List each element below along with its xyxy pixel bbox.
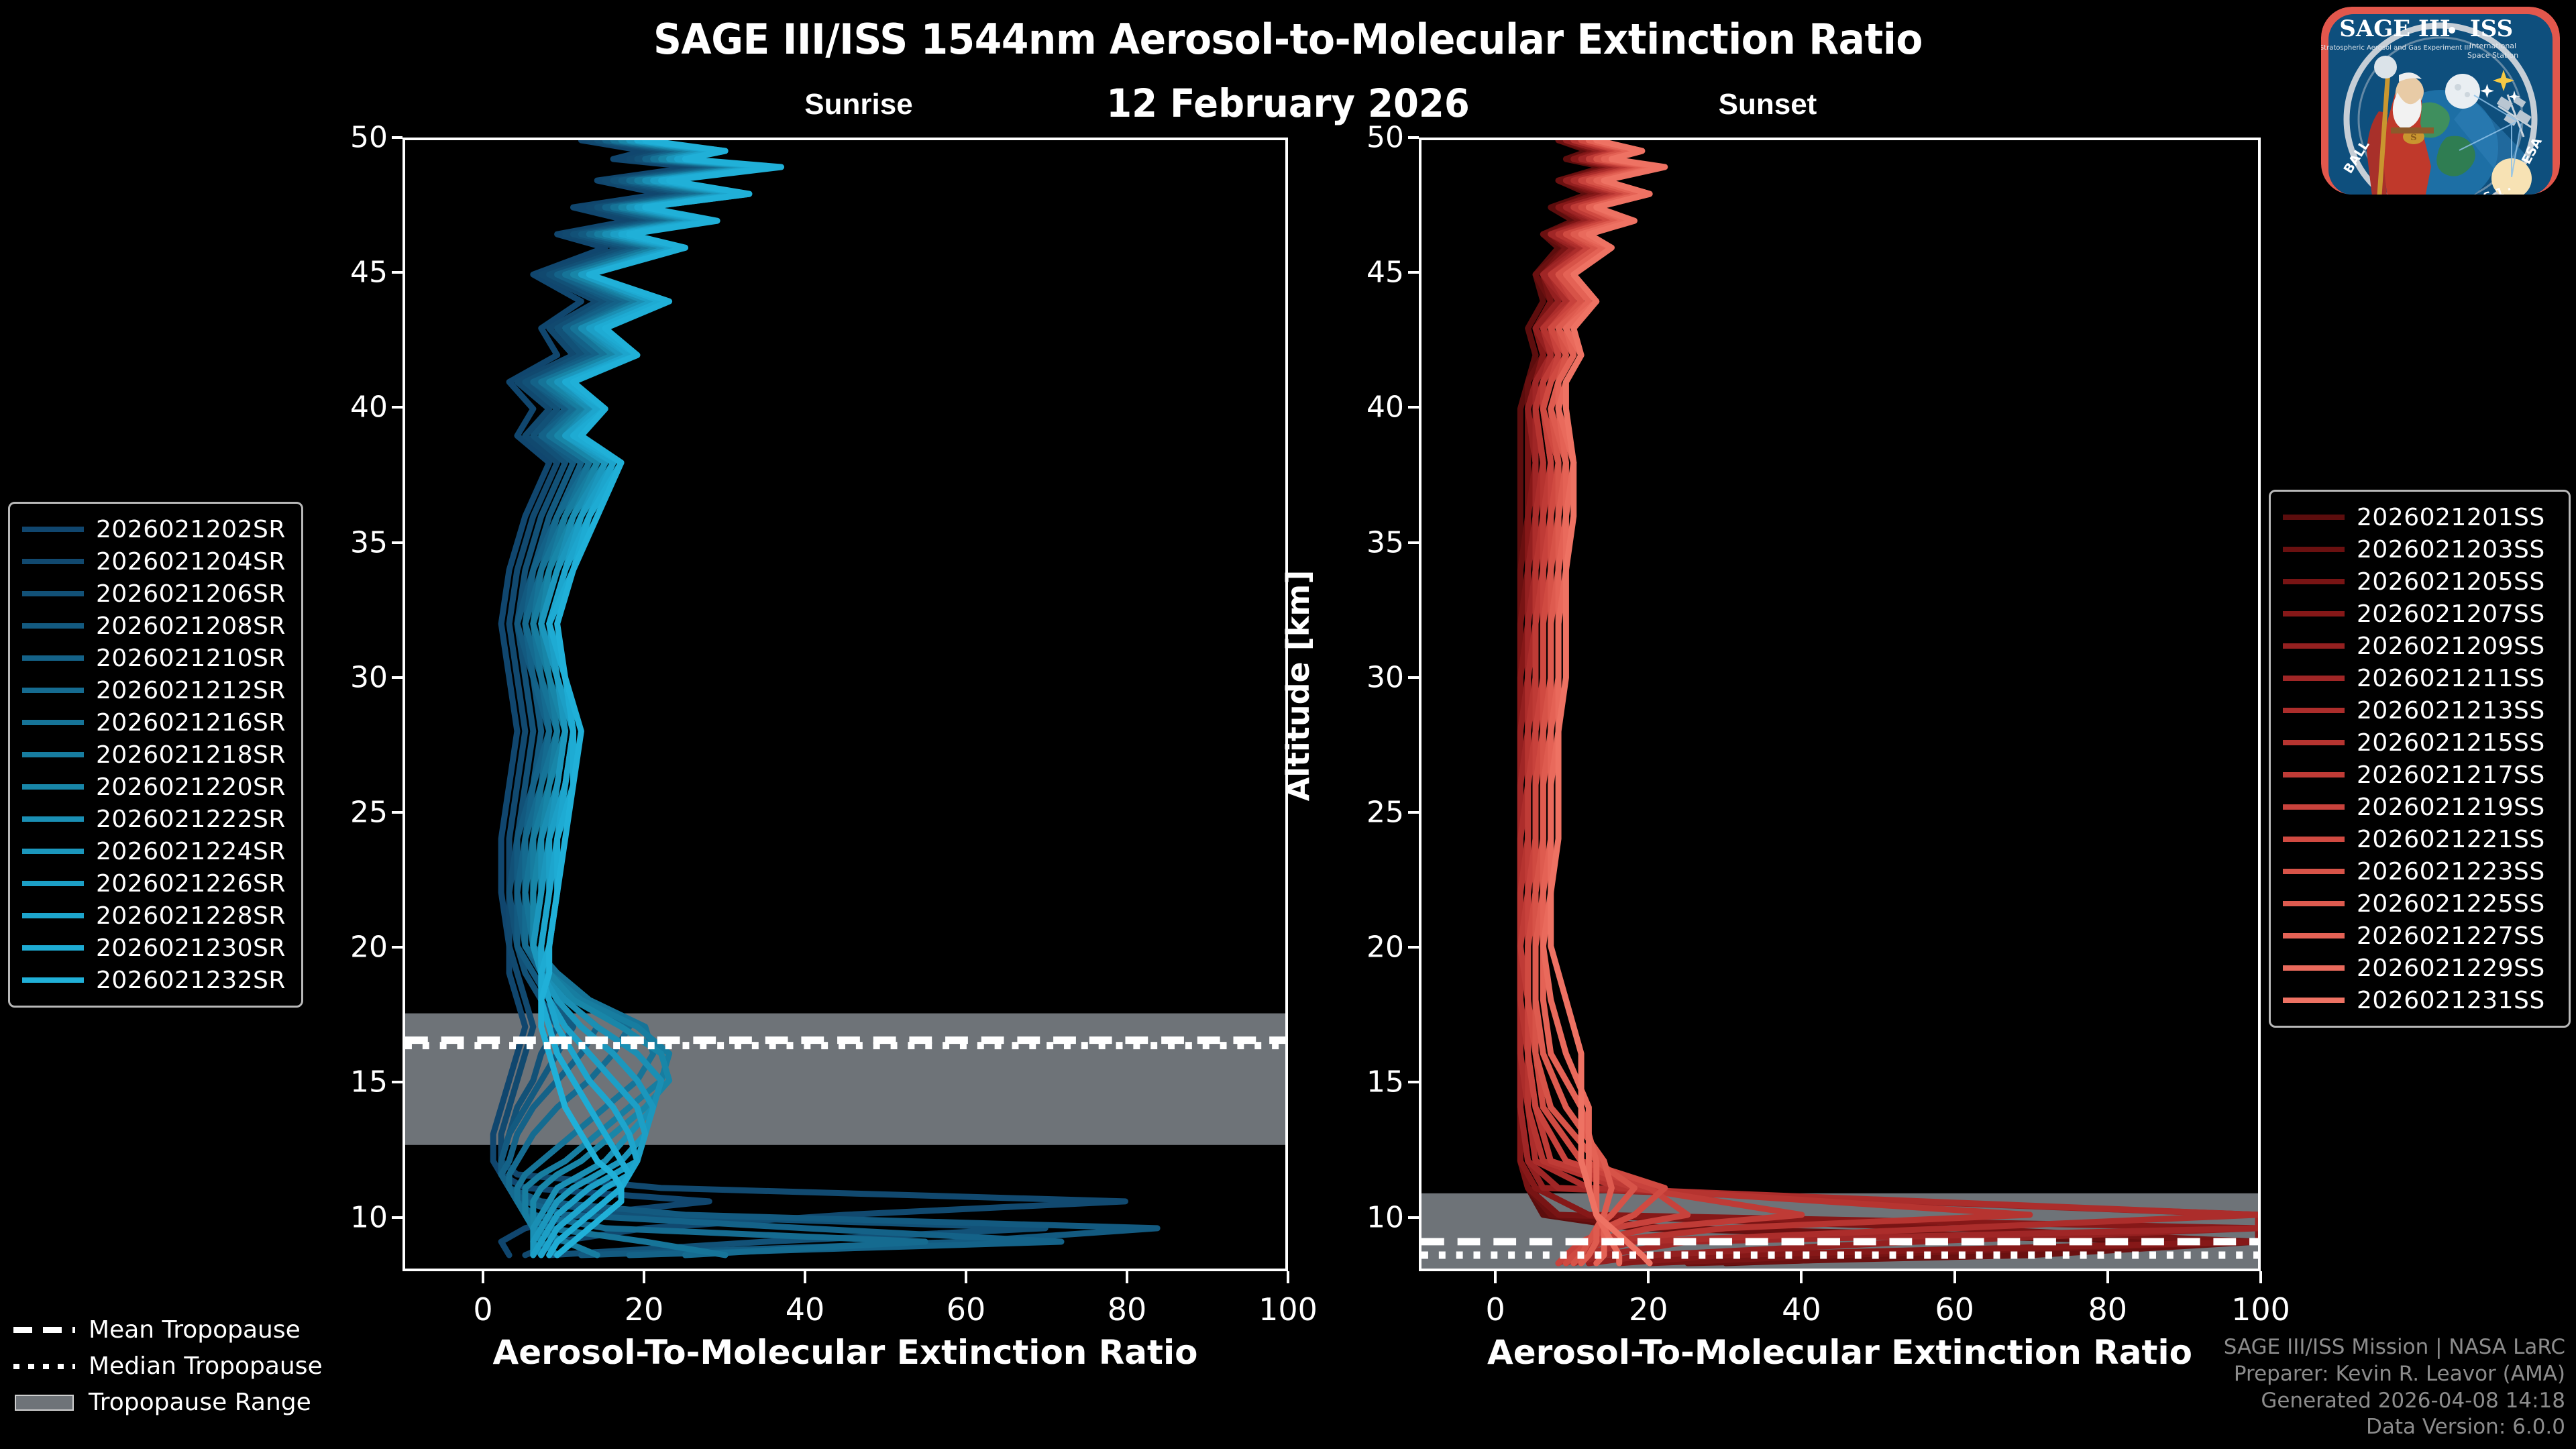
legend-item[interactable]: 2026021216SR [22, 706, 285, 739]
x-tick-mark [2259, 1271, 2262, 1283]
legend-color-swatch [22, 559, 84, 564]
y-tick-mark [392, 1216, 402, 1219]
data-series-line [1520, 140, 2258, 1263]
legend-color-swatch [2283, 643, 2345, 649]
y-axis-label-sunset: Altitude [km] [1280, 551, 1316, 820]
y-tick-label: 35 [350, 525, 388, 559]
x-tick-mark [1953, 1271, 1956, 1283]
x-tick-label: 0 [1485, 1291, 1505, 1328]
y-tick-label: 30 [350, 660, 388, 694]
legend-color-swatch [2283, 676, 2345, 681]
x-tick-label: 0 [473, 1291, 492, 1328]
data-series-line [1520, 140, 2258, 1263]
y-tick-mark [392, 1081, 402, 1083]
y-tick-mark [1408, 406, 1419, 409]
legend-color-swatch [22, 623, 84, 629]
legend-item-label: 2026021210SR [96, 645, 286, 672]
x-tick-label: 20 [1629, 1291, 1668, 1328]
x-tick-label: 60 [1935, 1291, 1974, 1328]
credits-block: SAGE III/ISS Mission | NASA LaRCPreparer… [2224, 1334, 2565, 1441]
legend-item[interactable]: 2026021201SS [2283, 501, 2553, 533]
legend-item-label: 2026021223SS [2357, 858, 2545, 885]
legend-color-swatch [22, 784, 84, 790]
legend-item-label: 2026021222SR [96, 806, 286, 833]
legend-color-swatch [2283, 965, 2345, 971]
legend-item[interactable]: 2026021224SR [22, 835, 285, 867]
legend-color-swatch [22, 913, 84, 918]
y-tick-label: 20 [350, 930, 388, 965]
legend-item[interactable]: 2026021229SS [2283, 952, 2553, 984]
x-tick-mark [1126, 1271, 1128, 1283]
svg-text:Space Station: Space Station [2467, 51, 2518, 60]
y-tick-mark [1408, 1081, 1419, 1083]
legend-item-label: 2026021218SR [96, 741, 286, 769]
legend-item-label: 2026021203SS [2357, 536, 2545, 563]
legend-sunrise[interactable]: 2026021202SR2026021204SR2026021206SR2026… [8, 502, 303, 1008]
x-axis-label-sunset: Aerosol-To-Molecular Extinction Ratio [1487, 1333, 2192, 1372]
y-tick-label: 20 [1366, 930, 1404, 965]
date-title: 12 February 2026 [77, 80, 2499, 126]
legend-item[interactable]: 2026021231SS [2283, 984, 2553, 1016]
legend-item-label: 2026021220SR [96, 773, 286, 801]
legend-item[interactable]: 2026021225SS [2283, 888, 2553, 920]
legend-item[interactable]: 2026021232SR [22, 964, 285, 996]
legend-item[interactable]: 2026021206SR [22, 578, 285, 610]
y-tick-mark [1408, 541, 1419, 544]
data-series-line [1520, 140, 2182, 1263]
y-tick-mark [1408, 811, 1419, 814]
data-series-line [1520, 140, 2258, 1263]
x-tick-label: 80 [1108, 1291, 1147, 1328]
legend-item-label: 2026021213SS [2357, 697, 2545, 724]
legend-item-label: 2026021226SR [96, 870, 286, 898]
legend-label-mean-tropopause: Mean Tropopause [89, 1316, 301, 1344]
legend-item[interactable]: 2026021210SR [22, 642, 285, 674]
legend-item-label: 2026021207SS [2357, 600, 2545, 628]
legend-item[interactable]: 2026021204SR [22, 545, 285, 578]
y-tick-label: 45 [1366, 256, 1404, 290]
legend-color-swatch [22, 881, 84, 886]
y-tick-label: 50 [350, 121, 388, 155]
x-tick-mark [1287, 1271, 1289, 1283]
y-tick-label: 50 [1366, 121, 1404, 155]
legend-label-tropopause-range: Tropopause Range [89, 1389, 311, 1416]
legend-color-swatch [2283, 515, 2345, 520]
data-series-line [1520, 140, 2030, 1263]
legend-color-swatch [22, 720, 84, 725]
legend-item[interactable]: 2026021223SS [2283, 855, 2553, 888]
y-tick-mark [392, 811, 402, 814]
data-series-line [1520, 140, 2258, 1263]
legend-color-swatch [2283, 998, 2345, 1003]
credit-line: Data Version: 6.0.0 [2224, 1414, 2565, 1441]
plot-area-sunset [1419, 138, 2261, 1271]
legend-item-label: 2026021225SS [2357, 890, 2545, 918]
legend-item[interactable]: 2026021222SR [22, 803, 285, 835]
x-tick-mark [1494, 1271, 1497, 1283]
legend-item-label: 2026021230SR [96, 934, 286, 962]
filled-box-icon [13, 1393, 75, 1411]
plot-area-sunrise [402, 138, 1288, 1271]
legend-item[interactable]: 2026021208SR [22, 610, 285, 642]
y-tick-label: 40 [350, 390, 388, 425]
legend-color-swatch [22, 849, 84, 854]
legend-color-swatch [2283, 869, 2345, 874]
legend-item-label: 2026021206SR [96, 580, 286, 608]
legend-item-label: 2026021204SR [96, 548, 286, 576]
legend-item-label: 2026021219SS [2357, 794, 2545, 821]
legend-color-swatch [22, 591, 84, 596]
legend-color-swatch [2283, 611, 2345, 616]
legend-item-label: 2026021215SS [2357, 729, 2545, 757]
legend-item[interactable]: 2026021203SS [2283, 533, 2553, 566]
legend-color-swatch [2283, 740, 2345, 745]
legend-color-swatch [22, 527, 84, 532]
x-tick-label: 20 [625, 1291, 664, 1328]
legend-item-label: 2026021216SR [96, 709, 286, 737]
x-tick-mark [643, 1271, 645, 1283]
y-tick-mark [392, 406, 402, 409]
legend-item-label: 2026021232SR [96, 967, 286, 994]
legend-item[interactable]: 2026021221SS [2283, 823, 2553, 855]
svg-text:International: International [2469, 42, 2516, 50]
legend-item-label: 2026021211SS [2357, 665, 2545, 692]
y-tick-mark [392, 136, 402, 139]
x-tick-mark [1800, 1271, 1803, 1283]
legend-color-swatch [2283, 804, 2345, 810]
dashed-line-icon [13, 1321, 75, 1338]
legend-item-label: 2026021212SR [96, 677, 286, 704]
legend-item[interactable]: 2026021228SR [22, 900, 285, 932]
y-tick-mark [1408, 676, 1419, 679]
plot-canvas-sunrise [405, 140, 1285, 1269]
credit-line: Generated 2026-04-08 14:18 [2224, 1388, 2565, 1415]
data-series-line [1520, 140, 2258, 1263]
panel-caption-sunrise: Sunrise [671, 88, 1046, 121]
legend-color-swatch [22, 945, 84, 951]
legend-item-label: 2026021201SS [2357, 504, 2545, 531]
legend-color-swatch [2283, 708, 2345, 713]
legend-color-swatch [22, 816, 84, 822]
legend-color-swatch [22, 688, 84, 693]
legend-color-swatch [2283, 837, 2345, 842]
legend-label-median-tropopause: Median Tropopause [89, 1352, 323, 1380]
credit-line: Preparer: Kevin R. Leavor (AMA) [2224, 1361, 2565, 1388]
y-tick-mark [1408, 136, 1419, 139]
y-tick-mark [392, 541, 402, 544]
x-tick-mark [804, 1271, 806, 1283]
data-series-line [1520, 140, 2258, 1263]
credit-line: SAGE III/ISS Mission | NASA LaRC [2224, 1334, 2565, 1361]
svg-text:ISS: ISS [2470, 15, 2513, 42]
y-tick-mark [1408, 946, 1419, 949]
legend-row-median-tropopause: Median Tropopause [13, 1348, 362, 1384]
legend-color-swatch [2283, 901, 2345, 906]
y-tick-label: 10 [1366, 1200, 1404, 1234]
legend-item[interactable]: 2026021218SR [22, 739, 285, 771]
x-tick-label: 100 [2231, 1291, 2290, 1328]
legend-row-mean-tropopause: Mean Tropopause [13, 1311, 362, 1348]
y-tick-label: 15 [1366, 1065, 1404, 1099]
legend-item[interactable]: 2026021205SS [2283, 566, 2553, 598]
svg-text:SAGE III: SAGE III [2339, 15, 2450, 42]
y-tick-mark [392, 946, 402, 949]
legend-color-swatch [2283, 933, 2345, 938]
plot-panel-sunrise: Altitude [km] 101520253035404550 0204060… [402, 138, 1288, 1271]
x-tick-mark [1647, 1271, 1650, 1283]
legend-item-label: 2026021209SS [2357, 633, 2545, 660]
legend-item-label: 2026021227SS [2357, 922, 2545, 950]
legend-row-tropopause-range: Tropopause Range [13, 1384, 362, 1420]
legend-color-swatch [22, 655, 84, 661]
y-tick-mark [1408, 1216, 1419, 1219]
page-title: SAGE III/ISS 1544nm Aerosol-to-Molecular… [77, 15, 2499, 64]
legend-item-label: 2026021205SS [2357, 568, 2545, 596]
legend-item-label: 2026021224SR [96, 838, 286, 865]
x-tick-label: 60 [947, 1291, 986, 1328]
x-tick-mark [2106, 1271, 2109, 1283]
plot-panel-sunset: Altitude [km] 101520253035404550 0204060… [1419, 138, 2261, 1271]
panel-caption-sunset: Sunset [1580, 88, 1955, 121]
legend-item[interactable]: 2026021211SS [2283, 662, 2553, 694]
legend-item[interactable]: 2026021220SR [22, 771, 285, 803]
y-tick-mark [392, 676, 402, 679]
legend-color-swatch [2283, 579, 2345, 584]
legend-item[interactable]: 2026021209SS [2283, 630, 2553, 662]
legend-item-label: 2026021217SS [2357, 761, 2545, 789]
legend-color-swatch [22, 977, 84, 983]
legend-item[interactable]: 2026021212SR [22, 674, 285, 706]
x-tick-label: 100 [1258, 1291, 1318, 1328]
svg-text:Stratospheric Aerosol and Gas: Stratospheric Aerosol and Gas Experiment… [2320, 44, 2470, 52]
legend-sunset[interactable]: 2026021201SS2026021203SS2026021205SS2026… [2269, 490, 2571, 1028]
x-tick-mark [965, 1271, 967, 1283]
x-tick-label: 80 [2088, 1291, 2128, 1328]
y-tick-label: 40 [1366, 390, 1404, 425]
legend-item[interactable]: 2026021230SR [22, 932, 285, 964]
legend-color-swatch [2283, 547, 2345, 552]
legend-item-label: 2026021208SR [96, 612, 286, 640]
legend-item-label: 2026021202SR [96, 516, 286, 543]
plot-canvas-sunset [1421, 140, 2258, 1269]
legend-item-label: 2026021229SS [2357, 955, 2545, 982]
legend-color-swatch [22, 752, 84, 757]
legend-item[interactable]: 2026021202SR [22, 513, 285, 545]
y-tick-label: 45 [350, 256, 388, 290]
legend-item-label: 2026021221SS [2357, 826, 2545, 853]
y-tick-mark [392, 271, 402, 274]
x-tick-mark [482, 1271, 484, 1283]
x-tick-label: 40 [1782, 1291, 1821, 1328]
y-tick-label: 15 [350, 1065, 388, 1099]
y-tick-label: 25 [1366, 795, 1404, 829]
legend-item-label: 2026021228SR [96, 902, 286, 930]
legend-item[interactable]: 2026021213SS [2283, 694, 2553, 727]
figure-root: SAGE III/ISS 1544nm Aerosol-to-Molecular… [0, 0, 2576, 1449]
y-tick-label: 35 [1366, 525, 1404, 559]
legend-item[interactable]: 2026021227SS [2283, 920, 2553, 952]
svg-text:S: S [2410, 133, 2416, 143]
legend-item-label: 2026021231SS [2357, 987, 2545, 1014]
legend-item[interactable]: 2026021215SS [2283, 727, 2553, 759]
legend-item[interactable]: 2026021217SS [2283, 759, 2553, 791]
sage-iii-iss-mission-patch-logo: S BALL ESA S-1 · SAGE III ISS Stratosphe… [2316, 5, 2565, 195]
y-tick-mark [1408, 271, 1419, 274]
dotted-line-icon [13, 1357, 75, 1375]
y-tick-label: 10 [350, 1200, 388, 1234]
legend-tropopause: Mean Tropopause Median Tropopause Tropop… [13, 1311, 362, 1420]
legend-item[interactable]: 2026021226SR [22, 867, 285, 900]
x-axis-label-sunrise: Aerosol-To-Molecular Extinction Ratio [493, 1333, 1198, 1372]
legend-item[interactable]: 2026021219SS [2283, 791, 2553, 823]
y-tick-label: 30 [1366, 660, 1404, 694]
y-tick-label: 25 [350, 795, 388, 829]
legend-item[interactable]: 2026021207SS [2283, 598, 2553, 630]
legend-color-swatch [2283, 772, 2345, 777]
x-tick-label: 40 [786, 1291, 825, 1328]
